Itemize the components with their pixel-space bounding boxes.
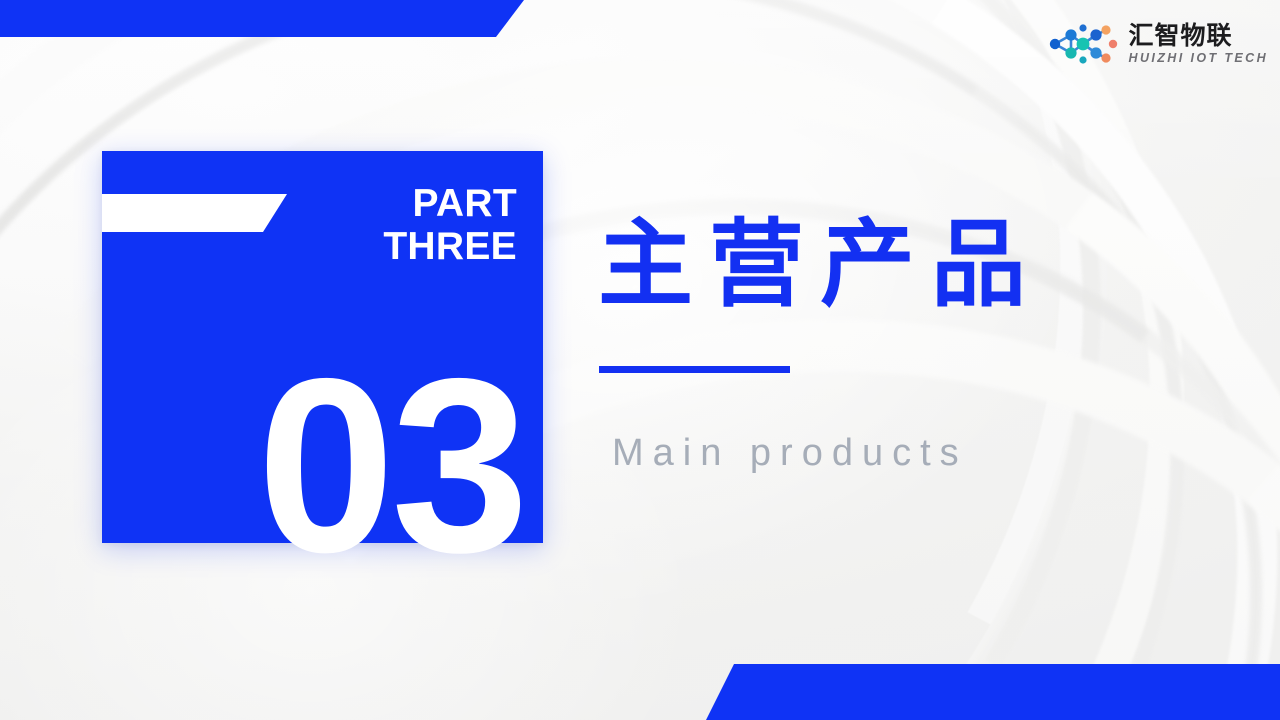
part-label: PART THREE bbox=[227, 183, 517, 269]
brand-text: 汇智物联 HUIZHI IOT TECH bbox=[1129, 23, 1268, 65]
brand-logo: 汇智物联 HUIZHI IOT TECH bbox=[1043, 22, 1268, 66]
page-title: 主营产品 bbox=[598, 216, 1218, 316]
headline-divider bbox=[599, 366, 790, 373]
headline-block: 主营产品 bbox=[598, 216, 1218, 316]
bottom-right-accent-bar bbox=[706, 664, 1280, 720]
page-subtitle: Main products bbox=[612, 432, 968, 475]
part-label-line2: THREE bbox=[227, 226, 517, 269]
brand-name-en: HUIZHI IOT TECH bbox=[1129, 52, 1268, 65]
top-left-accent-bar bbox=[0, 0, 524, 37]
molecule-network-icon bbox=[1043, 22, 1121, 66]
slide-root: PART THREE 03 主营产品 Main products bbox=[0, 0, 1280, 720]
brand-name-cn: 汇智物联 bbox=[1129, 23, 1268, 48]
part-number-card: PART THREE 03 bbox=[102, 151, 543, 543]
part-number: 03 bbox=[257, 341, 525, 589]
part-label-line1: PART bbox=[227, 183, 517, 226]
